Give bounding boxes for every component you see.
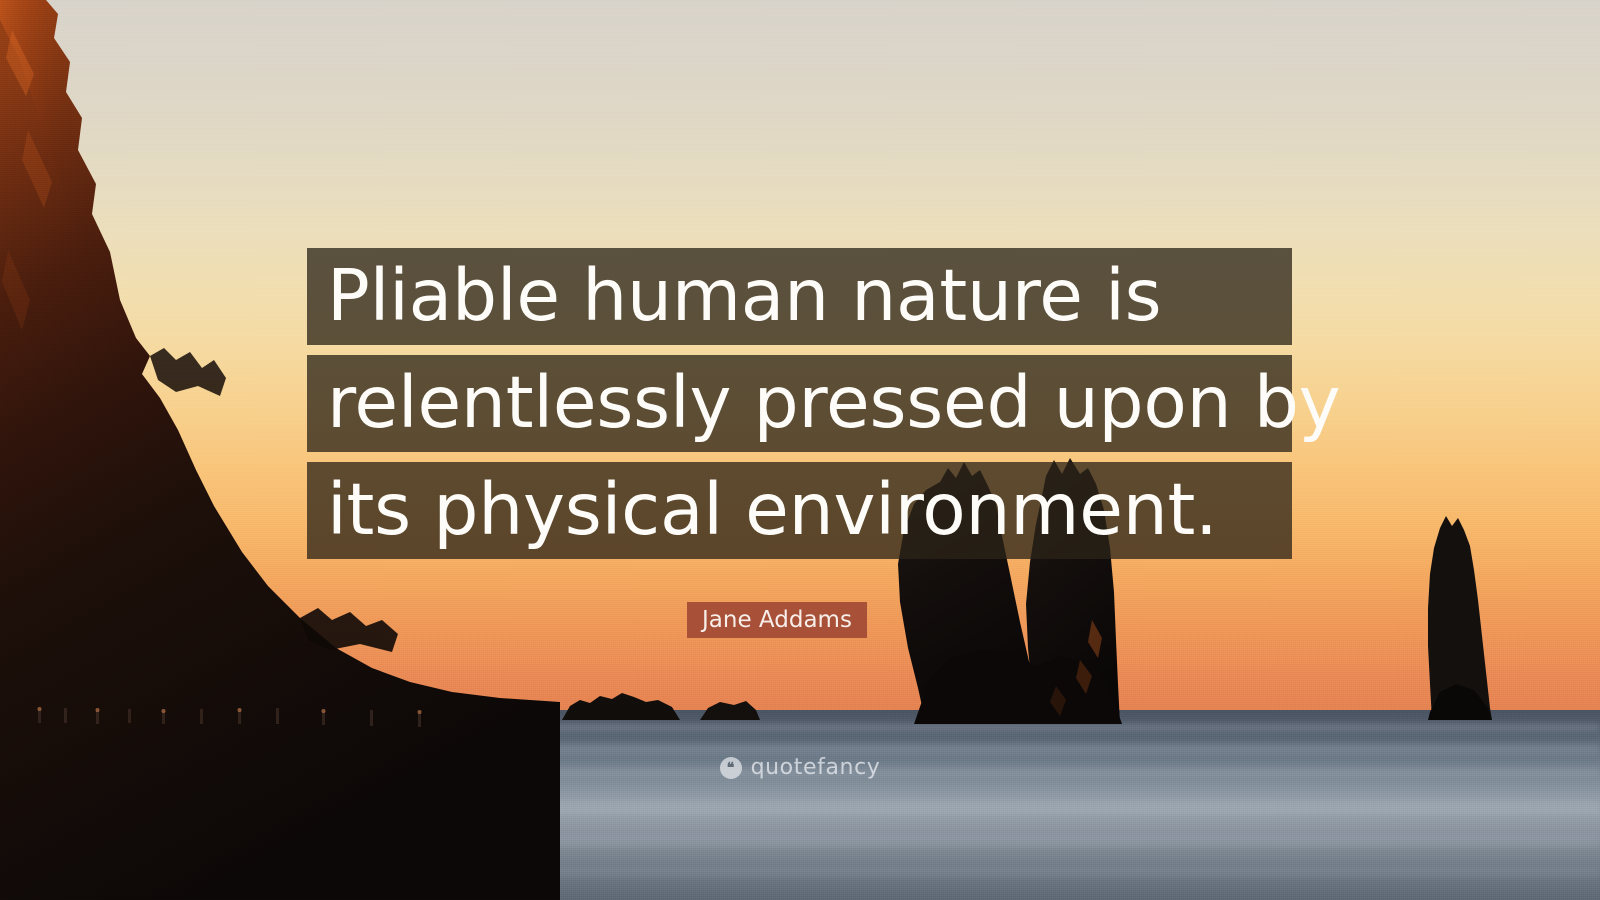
distant-people	[30, 700, 450, 740]
shore-rock-tiny	[700, 694, 760, 720]
quote-text-block: Pliable human nature is relentlessly pre…	[307, 248, 1292, 559]
quote-line-2: relentlessly pressed upon by	[307, 355, 1292, 452]
author-badge: Jane Addams	[687, 602, 867, 638]
quote-line-3: its physical environment.	[307, 462, 1292, 559]
quotefancy-watermark[interactable]: ❝ quotefancy	[0, 755, 1600, 780]
quote-poster: Pliable human nature is relentlessly pre…	[0, 0, 1600, 900]
quote-mark-icon: ❝	[720, 757, 742, 779]
shore-rock-small	[560, 676, 680, 720]
quote-line-1: Pliable human nature is	[307, 248, 1292, 345]
watermark-brand: quotefancy	[751, 755, 881, 780]
sea-stack-right	[1396, 512, 1516, 720]
